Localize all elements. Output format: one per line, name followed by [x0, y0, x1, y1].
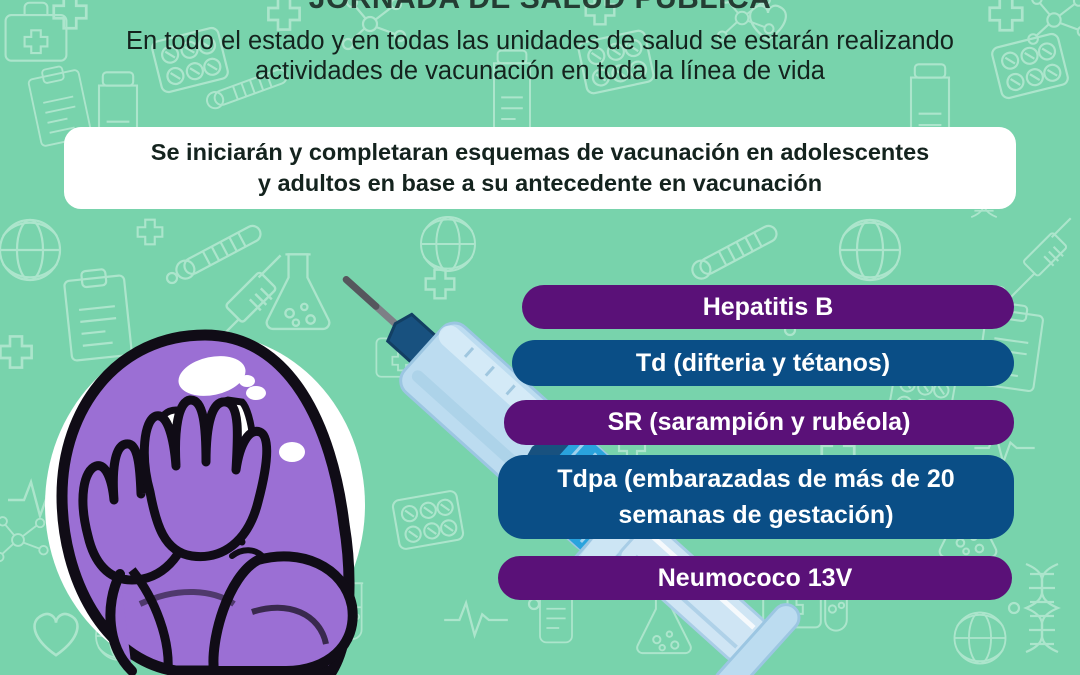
banner-line-2: y adultos en base a su antecedente en va… — [258, 168, 822, 199]
vaccine-pill-tdpa-text: Tdpa (embarazadas de más de 20 semanas d… — [557, 461, 954, 533]
vaccine-pill-neumococo[interactable]: Neumococo 13V — [498, 556, 1012, 600]
banner-line-1: Se iniciarán y completaran esquemas de v… — [151, 137, 929, 168]
vaccine-pill-sr[interactable]: SR (sarampión y rubéola) — [504, 400, 1014, 445]
heading-text: En todo el estado y en todas las unidade… — [50, 26, 1030, 86]
tdpa-line-1: Tdpa (embarazadas de más de 20 — [557, 465, 954, 493]
heading-line-1: En todo el estado y en todas las unidade… — [126, 27, 954, 55]
vaccine-pill-tdpa[interactable]: Tdpa (embarazadas de más de 20 semanas d… — [498, 455, 1014, 539]
white-info-banner: Se iniciarán y completaran esquemas de v… — [64, 127, 1016, 209]
tdpa-line-2: semanas de gestación) — [618, 501, 893, 529]
vaccination-poster: JORNADA DE SALUD PÚBLICA En todo el esta… — [0, 0, 1080, 675]
page-title-clipped: JORNADA DE SALUD PÚBLICA — [0, 0, 1080, 16]
heading-line-2: actividades de vacunación en toda la lín… — [50, 56, 1030, 86]
vaccine-pill-hepatitis-b[interactable]: Hepatitis B — [522, 285, 1014, 329]
vaccine-pill-td[interactable]: Td (difteria y tétanos) — [512, 340, 1014, 386]
